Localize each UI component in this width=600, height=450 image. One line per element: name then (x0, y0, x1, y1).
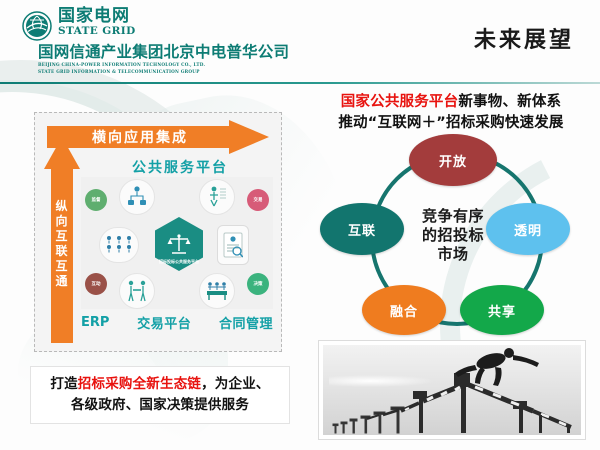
company-name-block: 国网信通产业集团北京中电普华公司 BEIJING CHINA-POWER INF… (38, 44, 289, 74)
caption-line-2: 各级政府、国家决策提供服务 (71, 395, 249, 416)
expert-person-icon (199, 179, 235, 215)
bid-evaluation-panel-icon (199, 273, 235, 309)
slide-header: 国家电网 STATE GRID 国网信通产业集团北京中电普华公司 BEIJING… (0, 0, 600, 82)
slide-canvas: 国家电网 STATE GRID 国网信通产业集团北京中电普华公司 BEIJING… (0, 0, 600, 450)
cycle-node-ronghe[interactable]: 融合 (362, 285, 446, 335)
logo-text-chinese: 国家电网 (58, 8, 136, 25)
brand-logo: 国家电网 STATE GRID (22, 8, 136, 41)
cycle-center-line-1: 竞争有序 (422, 207, 484, 226)
bottom-label-trading-platform: 交易平台 (137, 313, 191, 332)
cycle-node-kaifang[interactable]: 开放 (409, 134, 497, 186)
bottom-label-contract-management: 合同管理 (219, 313, 273, 332)
platform-bottom-labels: ERP 交易平台 合同管理 (81, 313, 273, 332)
caption-box: 打造招标采购全新生态链，为企业、 各级政府、国家决策提供服务 (30, 366, 290, 424)
company-name-english-line1: BEIJING CHINA-POWER INFORMATION TECHNOLO… (38, 62, 289, 68)
hurdle-photo-frame (318, 340, 586, 440)
ca-certificate-icon (217, 225, 249, 265)
platform-panel: 横向应用集成 纵向互联互通 公共服务平台 监督 交易 互动 决策 (34, 112, 282, 352)
cycle-center-label: 竞争有序 的招投标 市场 (392, 192, 514, 278)
scales-of-justice-icon (166, 232, 192, 256)
illustration-chip-juece: 决策 (247, 273, 269, 295)
caption-pre: 打造 (50, 376, 77, 392)
photo-cloud-streak (329, 375, 433, 387)
headline-block: 国家公共服务平台新事物、新体系 推动“互联网＋”招标采购快速发展 (308, 92, 594, 134)
cycle-center-line-3: 市场 (437, 245, 468, 264)
vertical-integration-arrow: 纵向互联互通 (45, 137, 79, 343)
illustration-chip-hudong: 互动 (85, 273, 107, 295)
horizontal-integration-arrow: 横向应用集成 (47, 121, 269, 153)
org-chart-icon (119, 179, 155, 215)
caption-line-1: 打造招标采购全新生态链，为企业、 (50, 374, 269, 395)
illustration-chip-jiandu: 监督 (85, 189, 107, 211)
platform-subtitle: 公共服务平台 (87, 157, 273, 177)
header-divider (0, 82, 600, 84)
page-title: 未来展望 (474, 22, 574, 54)
company-name-chinese: 国网信通产业集团北京中电普华公司 (38, 44, 289, 61)
headline-line-1: 国家公共服务平台新事物、新体系 (308, 92, 594, 113)
state-grid-globe-icon (22, 11, 52, 41)
cycle-node-gongxiang[interactable]: 共享 (460, 285, 544, 335)
headline-line-2: 推动“互联网＋”招标采购快速发展 (308, 113, 594, 134)
illustration-chip-jiaoyi: 交易 (247, 189, 269, 211)
hurdler-illustration (323, 345, 581, 435)
central-platform-label: 招标投标公共服务平台 (155, 259, 203, 265)
enterprise-group-icon (99, 227, 139, 263)
logo-text-english: STATE GRID (58, 25, 136, 37)
vertical-arrow-head-icon (44, 137, 80, 169)
cycle-diagram: 开放 透明 共享 融合 互联 竞争有序 的招投标 市场 (326, 140, 584, 330)
handshake-icon (119, 273, 155, 309)
company-name-english-line2: STATE GRID INFORMATION & TELECOMMUNICATI… (38, 69, 289, 75)
bottom-label-erp: ERP (81, 315, 109, 330)
vertical-arrow-label: 纵向互联互通 (51, 199, 73, 289)
caption-highlight: 招标采购全新生态链 (78, 376, 201, 392)
horizontal-arrow-head-icon (229, 120, 269, 154)
hurdle-photo (323, 345, 581, 435)
cycle-center-line-2: 的招投标 (422, 226, 484, 245)
platform-illustration: 监督 交易 互动 决策 (81, 177, 273, 309)
headline-highlight: 国家公共服务平台 (341, 94, 459, 110)
headline-line1-rest: 新事物、新体系 (458, 94, 561, 110)
caption-post: ，为企业、 (201, 376, 270, 392)
